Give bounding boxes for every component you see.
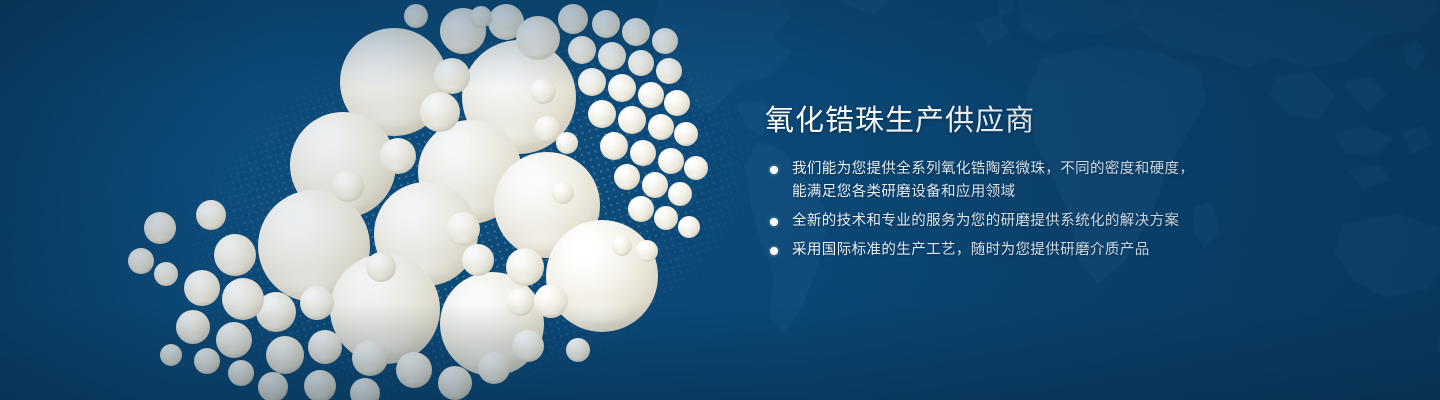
hero-banner: 氧化锆珠生产供应商 我们能为您提供全系列氧化锆陶瓷微珠，不同的密度和硬度， 能满… — [0, 0, 1440, 400]
banner-vignette-overlay — [0, 0, 1440, 400]
